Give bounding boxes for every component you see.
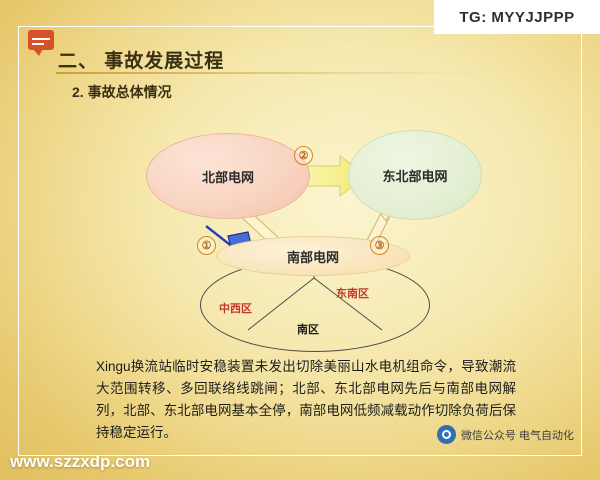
tg-watermark-badge: TG: MYYJJPPP (434, 0, 600, 34)
region-label-zhongxi: 中西区 (219, 300, 252, 316)
node-northeast-grid: 东北部电网 (348, 130, 482, 220)
tg-watermark-text: TG: MYYJJPPP (459, 9, 574, 26)
speech-bubble-icon (28, 30, 54, 50)
step-marker-1: ① (197, 236, 216, 255)
wechat-logo-text: 微信公众号 电气自动化 (461, 427, 574, 443)
region-label-dongnan: 东南区 (336, 285, 369, 301)
wechat-logo: 微信公众号 电气自动化 (437, 425, 574, 444)
site-watermark: www.szzxdp.com (10, 452, 150, 472)
slide-canvas: 二、 事故发展过程 2. 事故总体情况 (0, 0, 600, 480)
wechat-logo-icon (437, 425, 456, 444)
region-label-nanqu: 南区 (297, 321, 319, 337)
step-marker-3: ③ (370, 236, 389, 255)
node-north-grid: 北部电网 (146, 133, 310, 219)
step-marker-2: ② (294, 146, 313, 165)
